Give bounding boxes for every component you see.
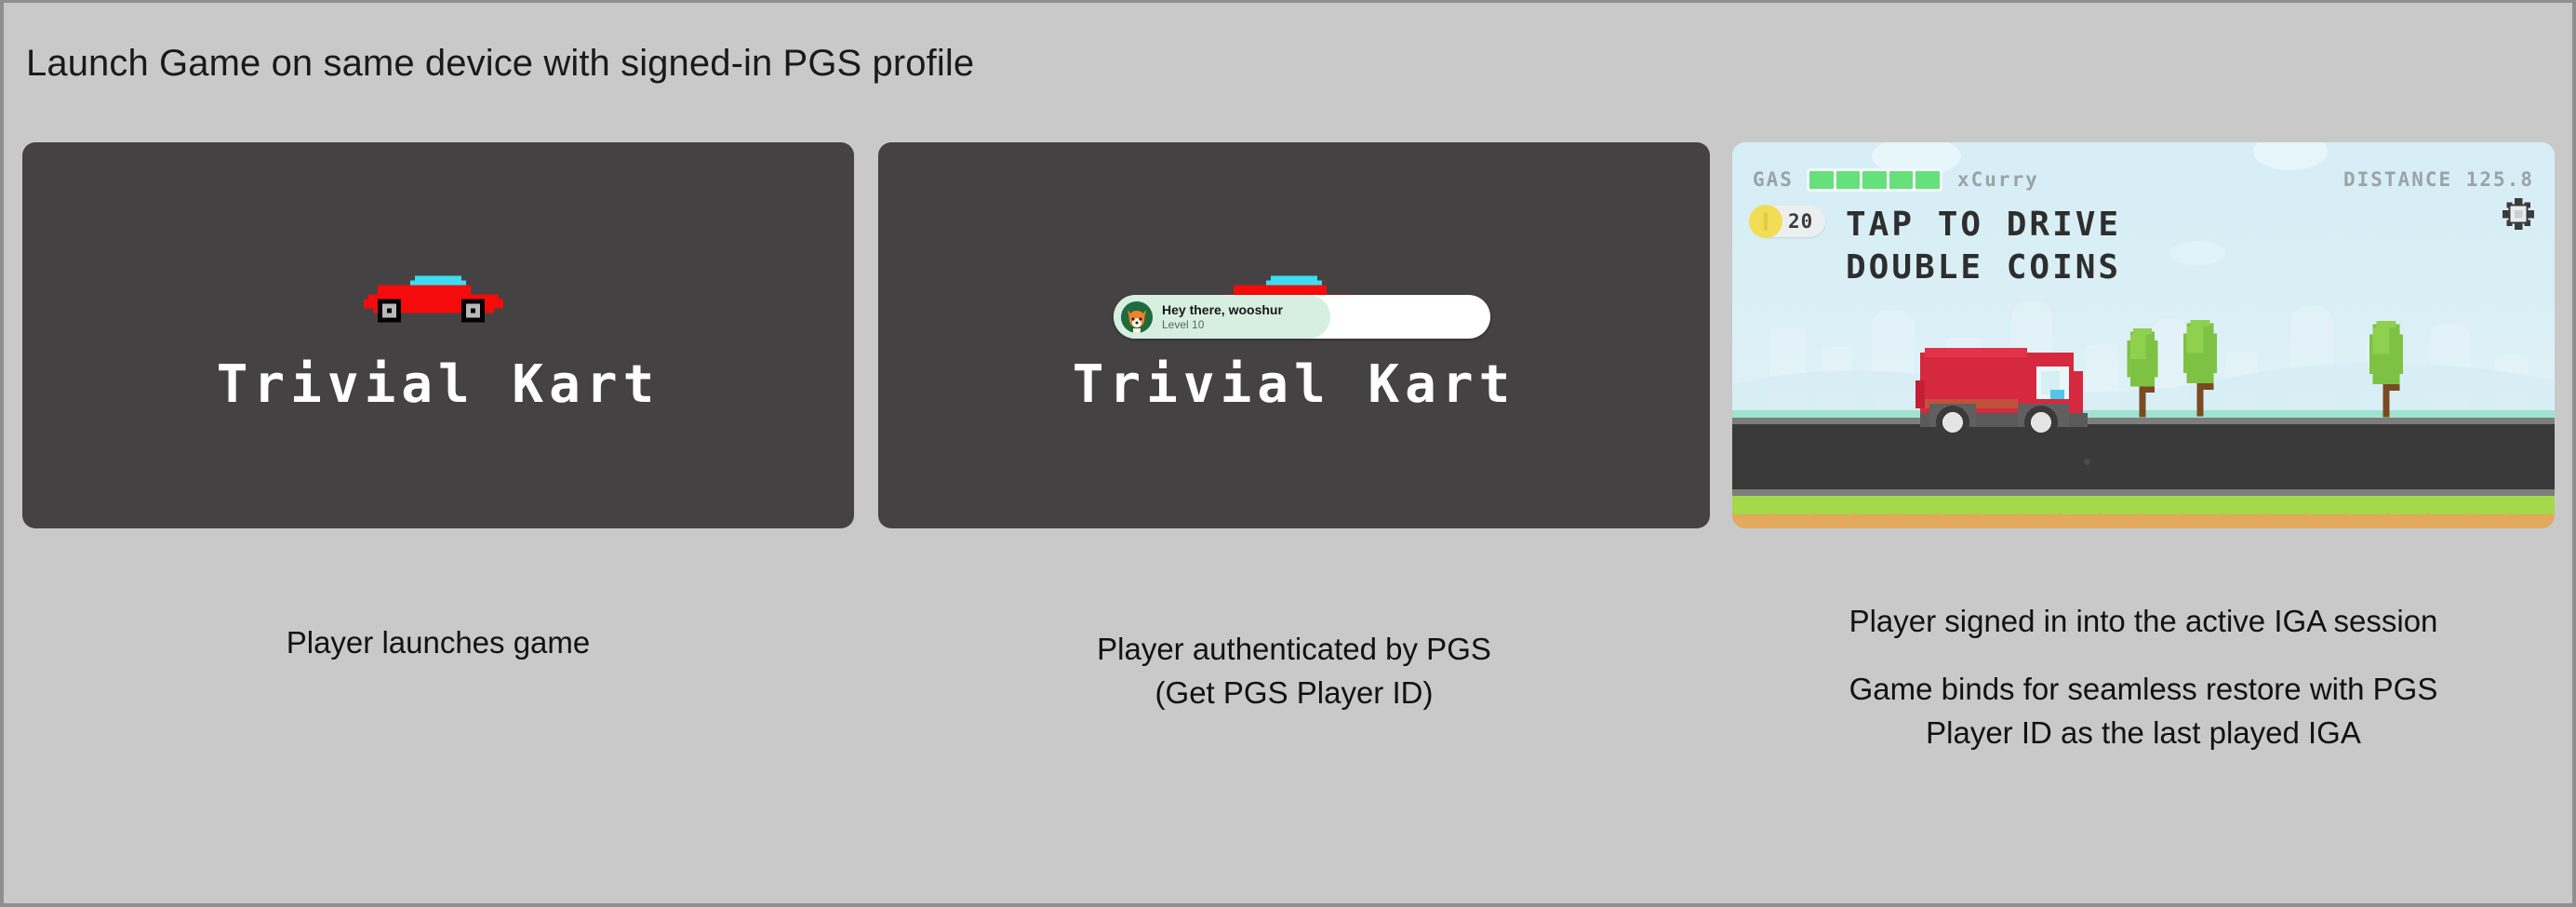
- cloud-icon: [2169, 241, 2225, 265]
- frame-bottom-border: [0, 903, 2576, 907]
- player-name: xCurry: [1957, 168, 2039, 191]
- caption-line: (Get PGS Player ID): [878, 672, 1710, 715]
- page-title: Launch Game on same device with signed-i…: [26, 43, 974, 85]
- pgs-greeting: Hey there, wooshur: [1162, 303, 1283, 317]
- frame-right-border: [2572, 0, 2576, 907]
- game-message-secondary: DOUBLE COINS: [1846, 247, 2121, 289]
- caption-spacer: [1732, 644, 2555, 668]
- pixel-tree-icon: [2363, 317, 2409, 418]
- panel-authenticated: Trivial Kart Hey there, wooshur Level 10: [878, 142, 1710, 528]
- distance-label: DISTANCE 125.8: [2343, 168, 2534, 191]
- panel-gameplay: GAS xCurry DISTANCE 125.8 20 TAP TO DRIV…: [1732, 142, 2555, 528]
- game-message-block: TAP TO DRIVE DOUBLE COINS: [1846, 204, 2121, 289]
- game-title: Trivial Kart: [1073, 354, 1516, 415]
- fox-avatar-icon: [1121, 301, 1153, 333]
- road: [1732, 418, 2555, 496]
- caption-line: Player ID as the last played IGA: [1732, 712, 2555, 755]
- coin-icon: [1749, 205, 1782, 238]
- gas-segment: [1889, 171, 1914, 189]
- pgs-welcome-banner[interactable]: Hey there, wooshur Level 10: [1114, 295, 1490, 339]
- red-car-icon: [359, 271, 517, 332]
- caption-line: Player signed in into the active IGA ses…: [1732, 600, 2555, 644]
- gear-icon[interactable]: [2503, 198, 2534, 230]
- caption-authenticated: Player authenticated by PGS (Get PGS Pla…: [878, 628, 1710, 715]
- caption-line: Game binds for seamless restore with PGS: [1732, 668, 2555, 712]
- game-hud-row: GAS xCurry DISTANCE 125.8: [1753, 167, 2534, 193]
- pgs-level: Level 10: [1162, 319, 1283, 331]
- road-edge-bottom: [1732, 489, 2555, 496]
- gas-label: GAS: [1753, 168, 1794, 191]
- gas-segment: [1915, 171, 1940, 189]
- gas-segment: [1862, 171, 1887, 189]
- gas-bar: [1807, 168, 1942, 192]
- coin-counter: 20: [1753, 206, 1825, 237]
- game-splash: Trivial Kart: [22, 142, 854, 528]
- road-edge-top: [1732, 418, 2555, 424]
- caption-line: Player launches game: [22, 621, 854, 665]
- frame-top-border: [0, 0, 2576, 3]
- panel-launch: Trivial Kart: [22, 142, 854, 528]
- road-marking: [2084, 459, 2090, 465]
- red-truck-icon: [1911, 334, 2111, 436]
- frame-left-border: [0, 0, 4, 907]
- pixel-tree-icon: [2177, 315, 2223, 418]
- caption-line: Player authenticated by PGS: [878, 628, 1710, 672]
- gas-segment: [1809, 171, 1834, 189]
- gas-segment: [1836, 171, 1861, 189]
- caption-gameplay: Player signed in into the active IGA ses…: [1732, 600, 2555, 755]
- pixel-tree-icon: [2121, 325, 2164, 418]
- game-message-primary: TAP TO DRIVE: [1846, 204, 2121, 247]
- caption-launch: Player launches game: [22, 621, 854, 665]
- dirt-zigzag-edge: [1732, 513, 2555, 528]
- coin-count: 20: [1788, 210, 1813, 233]
- game-title: Trivial Kart: [217, 354, 661, 415]
